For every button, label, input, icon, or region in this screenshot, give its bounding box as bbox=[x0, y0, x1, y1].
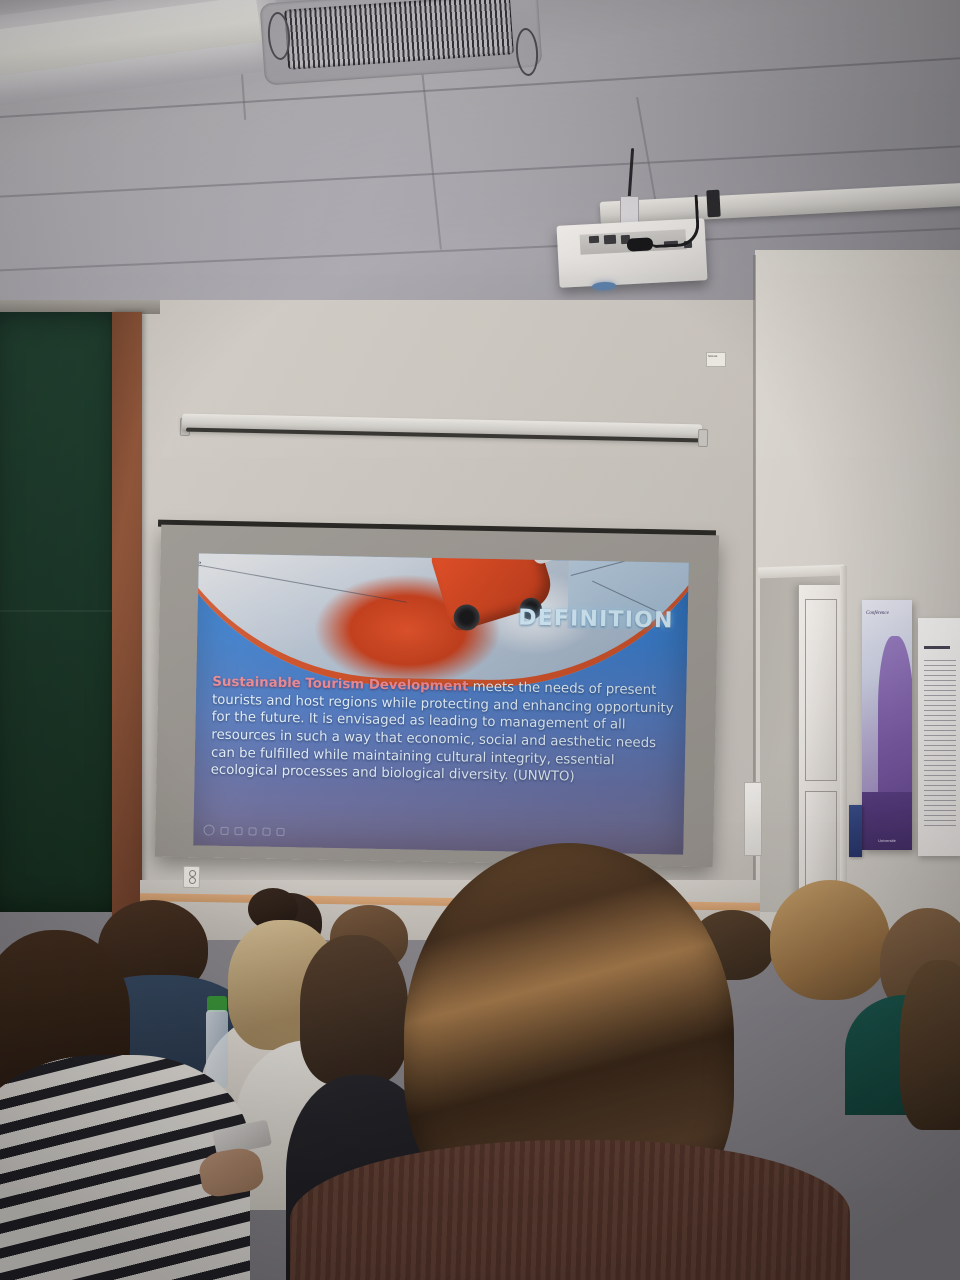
projector-port-icon bbox=[589, 236, 599, 244]
slide-body-text: Sustainable Tourism Development meets th… bbox=[211, 674, 677, 789]
poster-left-title: Conférence bbox=[866, 610, 889, 618]
poster-portrait-figure bbox=[878, 636, 912, 816]
blue-wall-sign bbox=[849, 805, 862, 857]
room-sign: SALLE bbox=[706, 352, 726, 367]
slide-view-icon[interactable] bbox=[248, 827, 256, 835]
poster-left-footer: Université bbox=[866, 838, 908, 844]
door-jamb bbox=[840, 566, 847, 916]
door-panel bbox=[805, 791, 837, 893]
projector-cable bbox=[649, 195, 701, 248]
slide-body-rest: meets the needs of present tourists and … bbox=[211, 680, 674, 785]
projector-plug-icon bbox=[627, 237, 654, 251]
photo-wheel-icon bbox=[453, 604, 479, 630]
wall-notice bbox=[744, 782, 762, 856]
chalkboard bbox=[0, 312, 120, 912]
door-panel bbox=[805, 599, 837, 781]
pen-icon[interactable] bbox=[220, 826, 228, 834]
projector-mount bbox=[620, 196, 639, 224]
more-options-icon[interactable] bbox=[276, 827, 284, 835]
lecture-hall-photo: SALLE Place DEFINITION Sustainable Touri… bbox=[0, 0, 960, 1280]
pipe-clamp-icon bbox=[706, 190, 720, 218]
wooden-post bbox=[112, 312, 142, 922]
screen-bracket-icon bbox=[698, 429, 708, 447]
poster-right-text-lines bbox=[924, 660, 956, 830]
audience-head bbox=[900, 960, 960, 1130]
audience-head bbox=[770, 880, 890, 1000]
photo-map-line bbox=[200, 565, 407, 603]
room-sign-label: SALLE bbox=[707, 353, 725, 360]
presentation-menu-icon[interactable] bbox=[203, 824, 214, 835]
chalkboard-seam bbox=[0, 610, 120, 612]
classroom-door[interactable] bbox=[798, 585, 843, 915]
wall-poster-right bbox=[918, 618, 960, 856]
presentation-slide[interactable]: Place DEFINITION Sustainable Tourism Dev… bbox=[193, 553, 689, 854]
presentation-controls[interactable] bbox=[203, 824, 284, 837]
wall-poster-left: Conférence Université bbox=[862, 600, 912, 850]
zoom-icon[interactable] bbox=[262, 827, 270, 835]
slide-lead-phrase: Sustainable Tourism Development bbox=[212, 675, 468, 695]
power-outlet-icon bbox=[183, 866, 200, 888]
projector-port-icon bbox=[604, 235, 616, 245]
audience-head bbox=[300, 935, 408, 1085]
highlighter-icon[interactable] bbox=[234, 827, 242, 835]
slide-title: DEFINITION bbox=[518, 605, 674, 633]
poster-right-heading bbox=[924, 646, 950, 649]
